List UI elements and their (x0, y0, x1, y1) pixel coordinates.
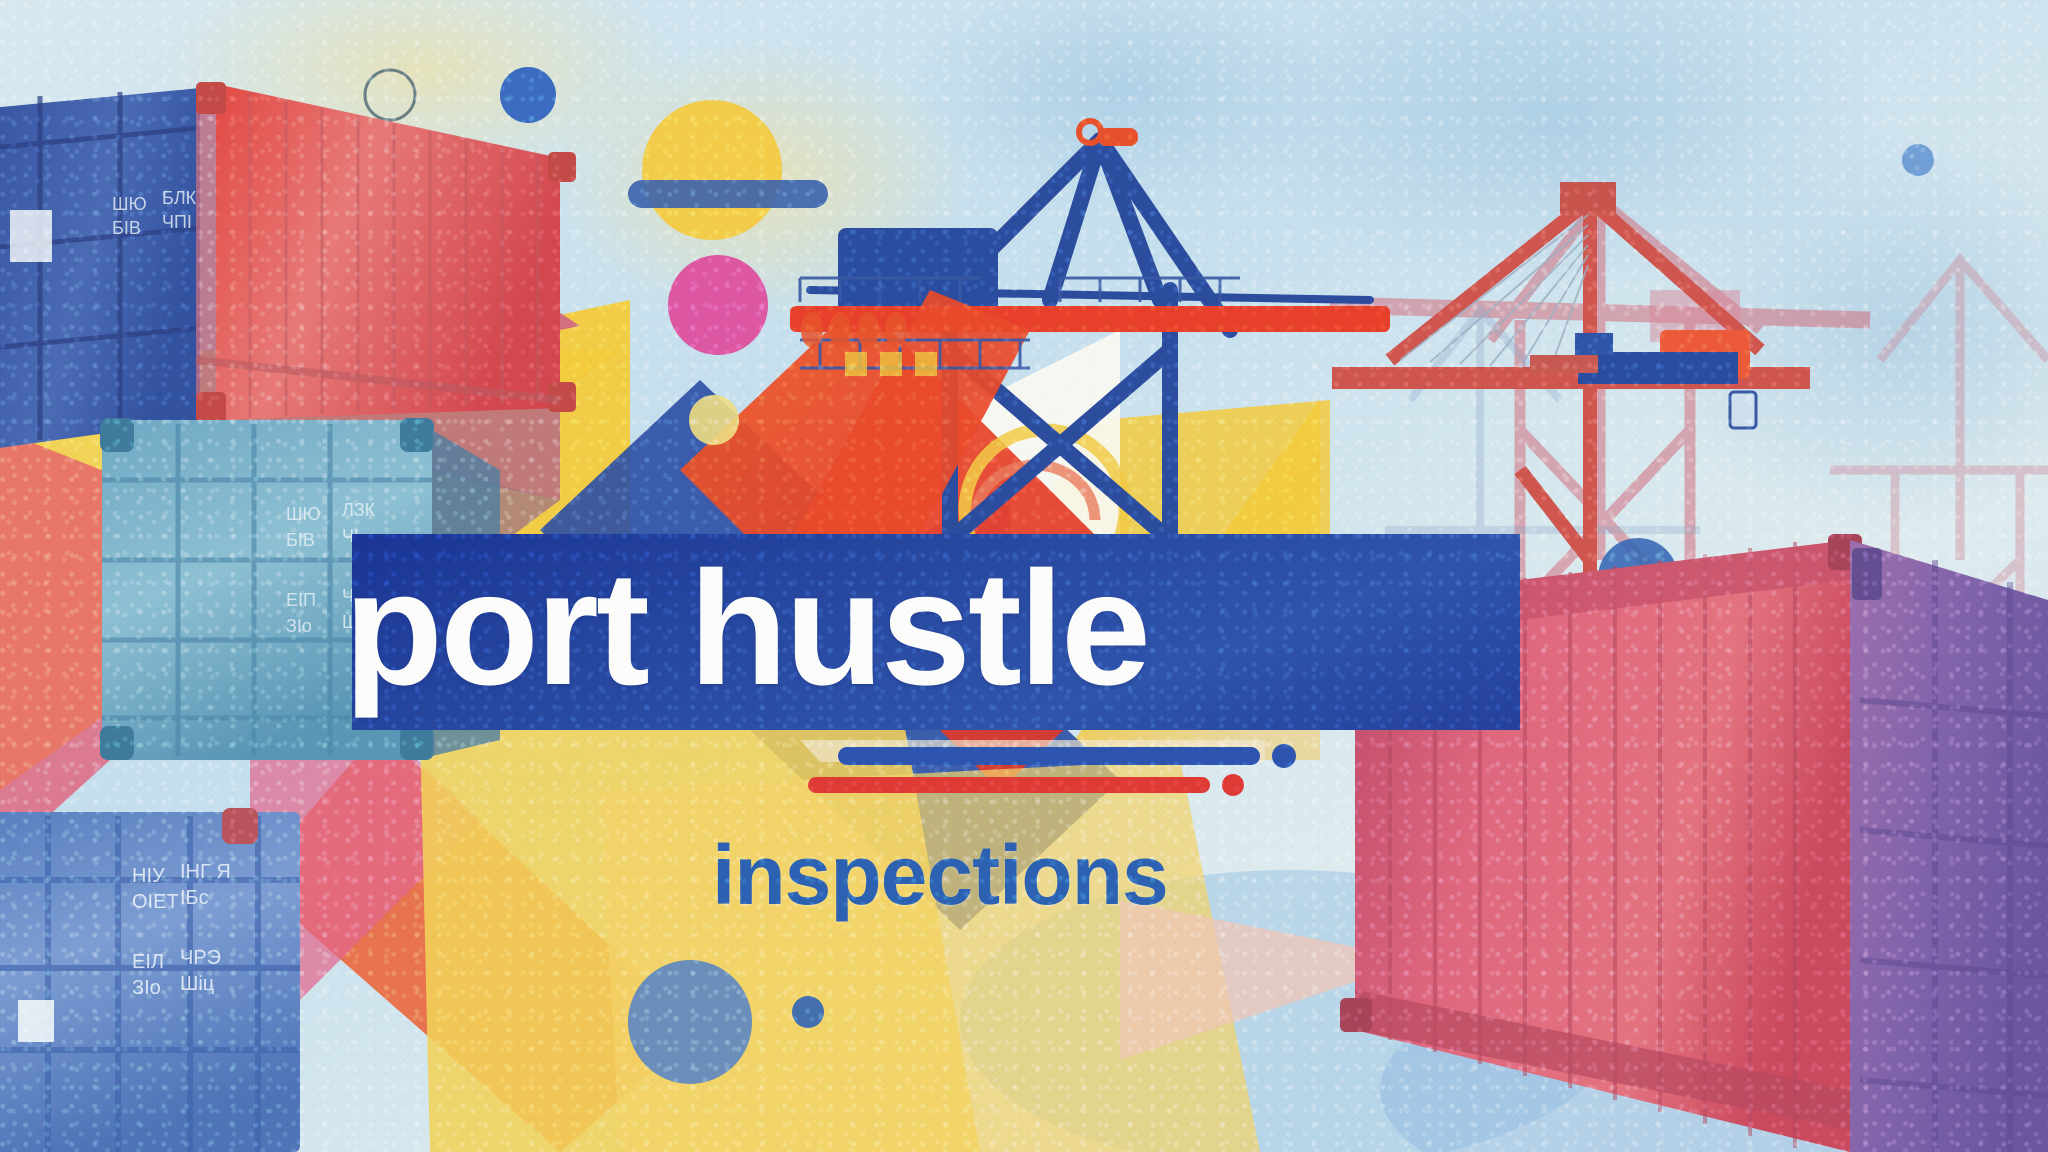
page-subtitle: inspections (712, 820, 1412, 930)
container-teal-corner2 (400, 418, 434, 452)
circle-blue-dot-bottom (792, 996, 824, 1028)
svg-text:ЛЗК: ЛЗК (342, 500, 376, 520)
container-red-right-corner2 (1340, 998, 1372, 1032)
container-teal-corner3 (100, 726, 134, 760)
container-blue-top-label (10, 210, 52, 262)
container-blue-bottom: НІУІНГ Я ОІЕТІБс ЕІЛЧРЭ ЗІоШіц (0, 808, 300, 1152)
svg-text:ШЮ: ШЮ (286, 504, 321, 524)
crane-right-trolley (1578, 352, 1738, 384)
container-blue-bottom-label (18, 1000, 54, 1042)
page-title: port hustle (344, 524, 1584, 734)
svg-text:ЧРЭ: ЧРЭ (180, 947, 221, 969)
poster-canvas: ШЮБЛК БІВЧПІ (0, 0, 2048, 1152)
svg-text:ЕІЛ: ЕІЛ (132, 951, 164, 973)
svg-text:ЧПІ: ЧПІ (162, 212, 192, 232)
circle-blue-bottom (628, 960, 752, 1084)
crane-right-rail (1530, 355, 1598, 373)
svg-text:НІУ: НІУ (132, 865, 165, 887)
circle-blue-small-top (500, 67, 556, 123)
blue-accent-rule (838, 747, 1260, 765)
circle-yellow-large (642, 100, 782, 240)
svg-text:БІВ: БІВ (286, 530, 315, 550)
svg-text:ОІЕТ: ОІЕТ (132, 891, 179, 913)
container-red-top-corner1 (196, 82, 226, 114)
bar-blue-through-circle (628, 180, 828, 208)
red-accent-rule (808, 777, 1210, 793)
red-accent-dot (1222, 774, 1244, 796)
container-purple-lock (1852, 548, 1882, 600)
container-purple-right (1850, 540, 2048, 1152)
svg-text:ІНГ Я: ІНГ Я (180, 861, 231, 883)
circle-blue-small-topright (1902, 144, 1934, 176)
svg-text:ЗІо: ЗІо (132, 977, 161, 999)
svg-text:ШЮ: ШЮ (112, 194, 147, 214)
container-red-top-corner2 (196, 392, 226, 424)
svg-text:Шіц: Шіц (180, 973, 214, 995)
svg-text:ЕІП: ЕІП (286, 590, 316, 610)
crane-main-hoppers-yellow (845, 352, 937, 376)
container-red-top-corner3 (548, 152, 576, 182)
container-blue-bottom-corner (222, 808, 258, 844)
blue-accent-dot (1272, 744, 1296, 768)
crane-main-cab (838, 228, 998, 318)
svg-text:ІБс: ІБс (180, 887, 209, 909)
crane-right-cabin (1730, 392, 1756, 428)
container-teal-corner1 (100, 418, 134, 452)
crane-main-tip (1098, 128, 1138, 146)
svg-text:БЛК: БЛК (162, 188, 197, 208)
crane-main-boom (790, 306, 1390, 332)
crane-right-cab2 (1575, 333, 1613, 355)
container-blue-top: ШЮБЛК БІВЧПІ (0, 88, 200, 452)
crane-right-tip (1560, 182, 1616, 214)
circle-pale-yellow (689, 395, 739, 445)
svg-text:БІВ: БІВ (112, 218, 141, 238)
circle-magenta (668, 255, 768, 355)
svg-text:ЗІо: ЗІо (286, 616, 312, 636)
